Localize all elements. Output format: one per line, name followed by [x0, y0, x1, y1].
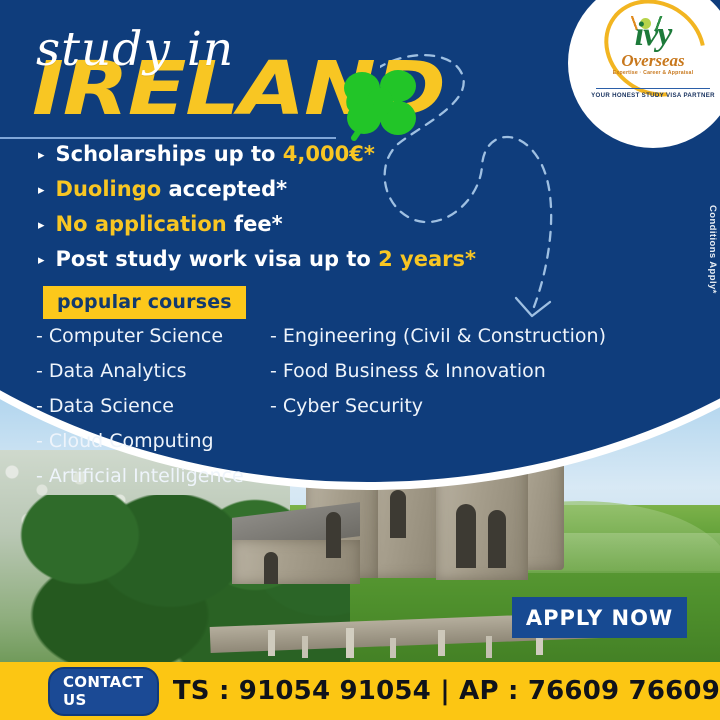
- course-item: - Engineering (Civil & Construction): [270, 325, 606, 347]
- contact-us-badge: CONTACT US: [48, 667, 159, 716]
- course-item: - Computer Science: [36, 325, 244, 347]
- benefit-text: No application fee*: [56, 213, 283, 235]
- apply-now-button[interactable]: APPLY NOW: [512, 597, 687, 638]
- benefits-list: ▸ Scholarships up to 4,000€* ▸ Duolingo …: [38, 143, 476, 283]
- benefit-text: Scholarships up to 4,000€*: [56, 143, 375, 165]
- benefit-text: Post study work visa up to 2 years*: [56, 248, 476, 270]
- course-item: - Food Business & Innovation: [270, 360, 606, 382]
- benefit-item: ▸ Scholarships up to 4,000€*: [38, 143, 476, 165]
- courses-column-right: - Engineering (Civil & Construction) - F…: [270, 325, 606, 430]
- course-item: - Data Analytics: [36, 360, 244, 382]
- conditions-apply-note: Conditions Apply*: [707, 205, 718, 294]
- benefit-item: ▸ No application fee*: [38, 213, 476, 235]
- bullet-triangle-icon: ▸: [38, 219, 45, 233]
- bullet-triangle-icon: ▸: [38, 149, 45, 163]
- bullet-triangle-icon: ▸: [38, 254, 45, 268]
- course-item: - Cyber Security: [270, 395, 606, 417]
- course-item: - Cloud Computing: [36, 430, 244, 452]
- popular-courses-badge: popular courses: [43, 286, 246, 319]
- benefit-text: Duolingo accepted*: [56, 178, 288, 200]
- poster-canvas: ivy Overseas Expertise · Career & Apprai…: [0, 0, 720, 720]
- courses-column-left: - Computer Science - Data Analytics - Da…: [36, 325, 244, 500]
- course-item: - Artificial Intelligence: [36, 465, 244, 487]
- contact-phone-numbers[interactable]: TS : 91054 91054 | AP : 76609 76609: [173, 676, 720, 706]
- four-leaf-clover-icon: [336, 58, 428, 144]
- headline-underline: [0, 137, 336, 139]
- contact-bar: CONTACT US TS : 91054 91054 | AP : 76609…: [0, 662, 720, 720]
- headline-script: study in: [36, 22, 234, 77]
- bullet-triangle-icon: ▸: [38, 184, 45, 198]
- benefit-item: ▸ Post study work visa up to 2 years*: [38, 248, 476, 270]
- benefit-item: ▸ Duolingo accepted*: [38, 178, 476, 200]
- course-item: - Data Science: [36, 395, 244, 417]
